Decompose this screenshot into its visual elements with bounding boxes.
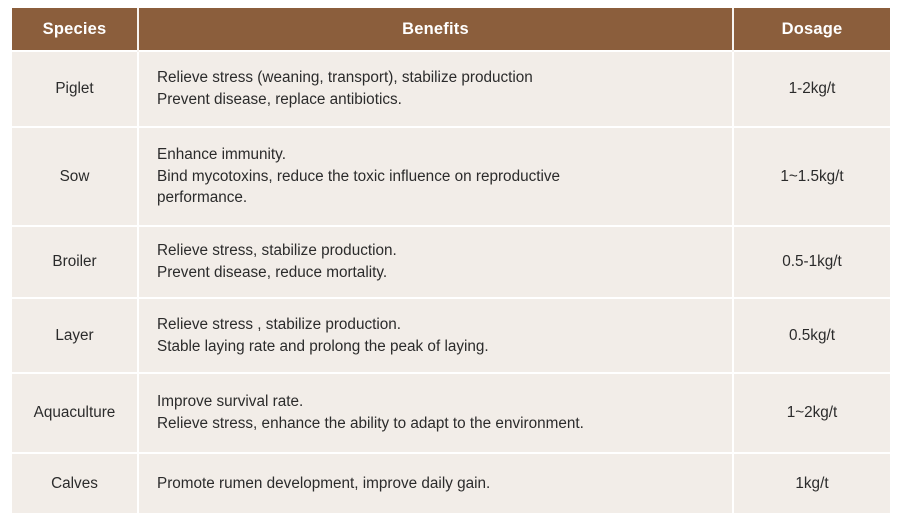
species-benefits-table: Species Benefits Dosage Piglet Relieve s… bbox=[12, 8, 890, 513]
benefit-line: Relieve stress , stabilize production. bbox=[157, 314, 718, 336]
benefit-line: Prevent disease, reduce mortality. bbox=[157, 262, 718, 284]
table-header: Species Benefits Dosage bbox=[12, 8, 890, 51]
cell-species: Layer bbox=[12, 298, 138, 373]
cell-species: Broiler bbox=[12, 226, 138, 298]
cell-benefits: Enhance immunity. Bind mycotoxins, reduc… bbox=[138, 127, 733, 226]
cell-benefits: Improve survival rate. Relieve stress, e… bbox=[138, 373, 733, 453]
cell-dosage: 1~2kg/t bbox=[733, 373, 890, 453]
table-row: Calves Promote rumen development, improv… bbox=[12, 453, 890, 513]
cell-species: Aquaculture bbox=[12, 373, 138, 453]
benefit-line: performance. bbox=[157, 187, 718, 209]
benefit-line: Improve survival rate. bbox=[157, 391, 718, 413]
table-row: Broiler Relieve stress, stabilize produc… bbox=[12, 226, 890, 298]
cell-dosage: 1~1.5kg/t bbox=[733, 127, 890, 226]
cell-species: Piglet bbox=[12, 51, 138, 127]
cell-dosage: 0.5-1kg/t bbox=[733, 226, 890, 298]
column-header-species: Species bbox=[12, 8, 138, 51]
benefit-line: Relieve stress (weaning, transport), sta… bbox=[157, 67, 718, 89]
cell-dosage: 1-2kg/t bbox=[733, 51, 890, 127]
header-row: Species Benefits Dosage bbox=[12, 8, 890, 51]
cell-benefits: Relieve stress, stabilize production. Pr… bbox=[138, 226, 733, 298]
cell-species: Sow bbox=[12, 127, 138, 226]
column-header-benefits: Benefits bbox=[138, 8, 733, 51]
column-header-dosage: Dosage bbox=[733, 8, 890, 51]
benefit-line: Promote rumen development, improve daily… bbox=[157, 473, 718, 495]
table-row: Aquaculture Improve survival rate. Relie… bbox=[12, 373, 890, 453]
species-benefits-table-container: Species Benefits Dosage Piglet Relieve s… bbox=[12, 8, 890, 405]
benefit-line: Stable laying rate and prolong the peak … bbox=[157, 336, 718, 358]
cell-species: Calves bbox=[12, 453, 138, 513]
cell-benefits: Relieve stress (weaning, transport), sta… bbox=[138, 51, 733, 127]
cell-dosage: 0.5kg/t bbox=[733, 298, 890, 373]
table-row: Sow Enhance immunity. Bind mycotoxins, r… bbox=[12, 127, 890, 226]
table-body: Piglet Relieve stress (weaning, transpor… bbox=[12, 51, 890, 513]
benefit-line: Enhance immunity. bbox=[157, 144, 718, 166]
benefit-line: Prevent disease, replace antibiotics. bbox=[157, 89, 718, 111]
benefit-line: Bind mycotoxins, reduce the toxic influe… bbox=[157, 166, 718, 188]
cell-benefits: Promote rumen development, improve daily… bbox=[138, 453, 733, 513]
benefit-line: Relieve stress, stabilize production. bbox=[157, 240, 718, 262]
cell-dosage: 1kg/t bbox=[733, 453, 890, 513]
cell-benefits: Relieve stress , stabilize production. S… bbox=[138, 298, 733, 373]
table-row: Piglet Relieve stress (weaning, transpor… bbox=[12, 51, 890, 127]
table-row: Layer Relieve stress , stabilize product… bbox=[12, 298, 890, 373]
benefit-line: Relieve stress, enhance the ability to a… bbox=[157, 413, 718, 435]
